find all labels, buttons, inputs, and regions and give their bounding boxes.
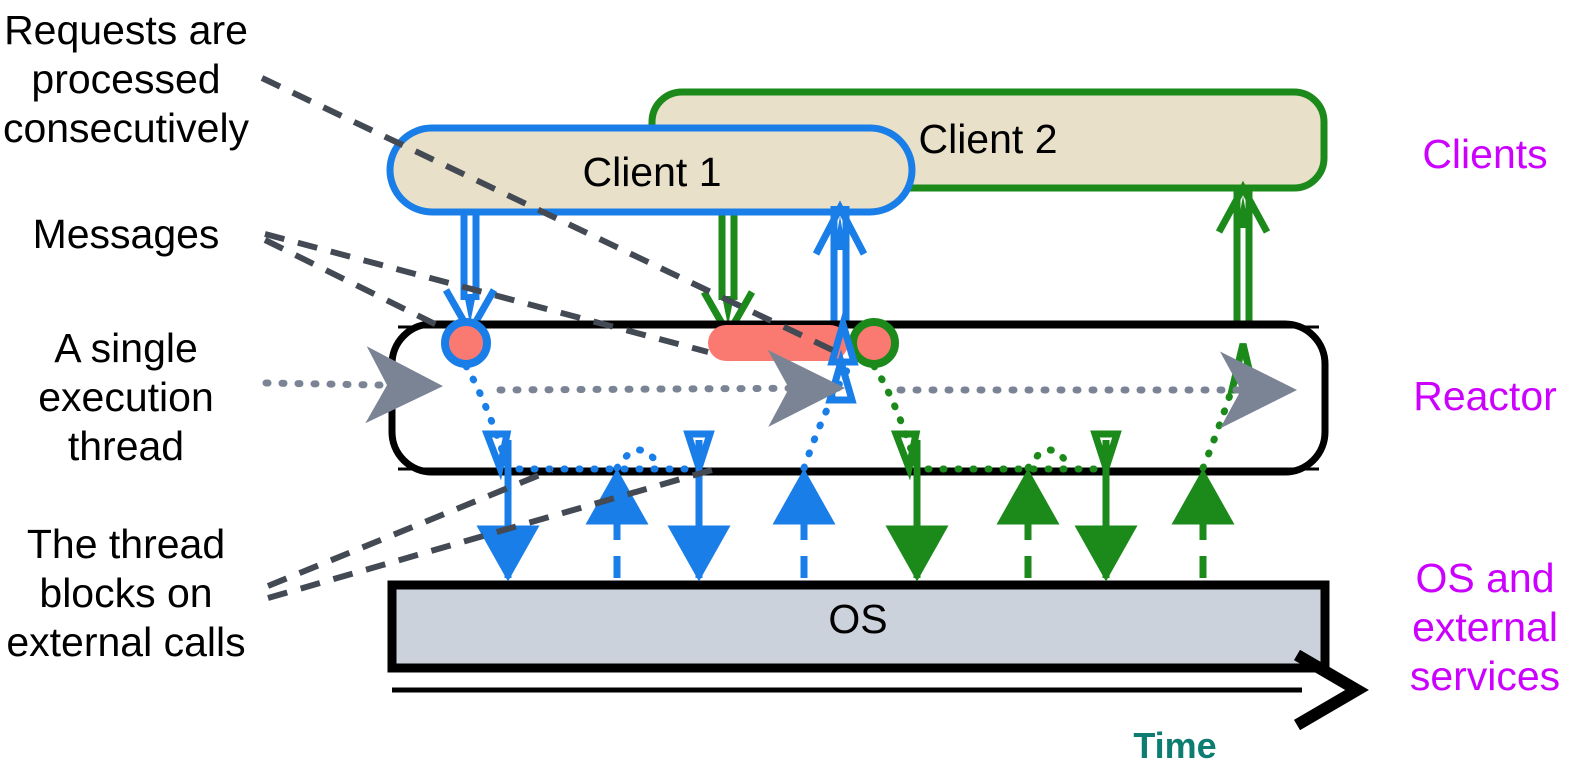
time-axis-label: Time: [1133, 725, 1216, 766]
diagram-canvas: Client 2 Client 1: [0, 0, 1583, 778]
annotation-messages: Messages: [33, 211, 220, 257]
busy-circle-client2: [853, 322, 895, 364]
side-label-line: external: [1412, 604, 1558, 650]
annotation-line: Requests are: [4, 7, 248, 53]
side-label-line: OS and: [1415, 555, 1554, 601]
annotation-thread-blocks: The thread blocks on external calls: [6, 521, 245, 665]
annotation-line: A single: [54, 325, 198, 371]
message-arrow-client1-request: [446, 212, 494, 332]
lane-client-1[interactable]: Client 1: [390, 128, 912, 212]
annotation-line: processed: [31, 56, 220, 102]
annotation-line: Messages: [33, 211, 220, 257]
annotation-line: execution: [38, 374, 214, 420]
annotation-line: external calls: [6, 619, 245, 665]
side-label-line: services: [1410, 653, 1560, 699]
lane-label-os: OS: [828, 596, 887, 642]
annotation-single-thread: A single execution thread: [38, 325, 214, 469]
syscall-arrows: [508, 470, 1203, 578]
annotation-line: consecutively: [3, 105, 250, 151]
side-label-line: Reactor: [1413, 373, 1557, 419]
busy-circle-client1: [445, 322, 487, 364]
annotation-requests-consecutive: Requests are processed consecutively: [3, 7, 250, 151]
busy-bar-client1: [708, 325, 848, 361]
lane-label-client-2: Client 2: [918, 116, 1057, 162]
time-axis: Time: [392, 690, 1302, 766]
reactor-pattern-diagram: Client 2 Client 1: [0, 0, 1583, 778]
side-label-line: Clients: [1422, 131, 1547, 177]
side-label-clients: Clients: [1422, 131, 1547, 177]
annotation-line: blocks on: [39, 570, 212, 616]
annotation-line: The thread: [27, 521, 225, 567]
side-label-os-external: OS and external services: [1410, 555, 1560, 699]
message-arrow-client2-response: [1219, 186, 1267, 340]
annotation-line: thread: [68, 423, 184, 469]
side-label-reactor: Reactor: [1413, 373, 1557, 419]
lane-os[interactable]: OS: [392, 585, 1325, 668]
lane-label-client-1: Client 1: [582, 149, 721, 195]
